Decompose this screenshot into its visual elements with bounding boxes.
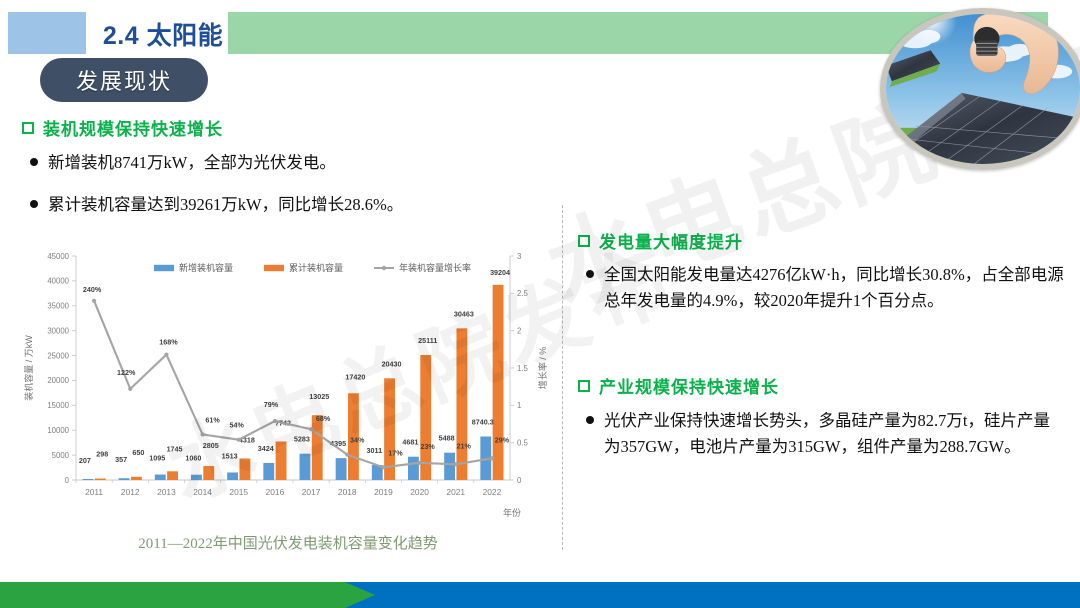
svg-text:2013: 2013 xyxy=(157,487,176,497)
svg-text:10000: 10000 xyxy=(47,426,69,435)
svg-text:2022: 2022 xyxy=(483,487,502,497)
svg-text:357: 357 xyxy=(115,455,127,464)
svg-text:35000: 35000 xyxy=(47,302,69,311)
list-item: 新增装机8741万kW，全部为光伏发电。 xyxy=(30,150,530,176)
svg-text:40000: 40000 xyxy=(47,277,69,286)
svg-text:2019: 2019 xyxy=(374,487,393,497)
footer-bar xyxy=(0,582,1080,608)
svg-text:1095: 1095 xyxy=(149,454,165,463)
svg-text:17420: 17420 xyxy=(345,372,365,381)
page-title: 2.4 太阳能 xyxy=(88,16,238,52)
svg-text:2018: 2018 xyxy=(338,487,357,497)
list-item-text: 新增装机8741万kW，全部为光伏发电。 xyxy=(48,150,336,176)
slide: 2.4 太阳能 xyxy=(0,0,1080,608)
bullet-dot-icon xyxy=(586,416,594,424)
svg-text:20000: 20000 xyxy=(47,376,69,385)
svg-text:增长率 / %: 增长率 / % xyxy=(537,347,548,390)
svg-text:5000: 5000 xyxy=(52,451,70,460)
svg-text:23%: 23% xyxy=(420,442,435,451)
section-heading-generation: 发电量大幅度提升 xyxy=(578,228,743,253)
svg-text:装机容量 / 万kW: 装机容量 / 万kW xyxy=(23,335,34,401)
svg-text:30463: 30463 xyxy=(454,309,474,318)
svg-text:79%: 79% xyxy=(264,400,279,409)
footer-green-chevron xyxy=(0,582,375,608)
svg-text:13025: 13025 xyxy=(309,392,329,401)
svg-text:1.5: 1.5 xyxy=(517,364,529,373)
svg-text:39204: 39204 xyxy=(490,268,510,277)
svg-text:8740.3: 8740.3 xyxy=(472,417,494,426)
svg-text:25000: 25000 xyxy=(47,351,69,360)
chart-caption: 2011—2022年中国光伏发电装机容量变化趋势 xyxy=(28,532,548,553)
svg-text:15000: 15000 xyxy=(47,401,69,410)
installed-capacity-chart: 0500010000150002000025000300003500040000… xyxy=(14,238,558,528)
svg-text:0.5: 0.5 xyxy=(517,438,529,447)
square-bullet-icon xyxy=(578,235,590,247)
square-bullet-icon xyxy=(578,380,590,392)
svg-text:4318: 4318 xyxy=(239,436,255,445)
list-item-text: 累计装机容量达到39261万kW，同比增长28.6%。 xyxy=(48,192,403,218)
svg-text:1745: 1745 xyxy=(167,444,183,453)
column-divider xyxy=(562,205,563,550)
section-heading-industry: 产业规模保持快速增长 xyxy=(578,373,779,398)
svg-text:2016: 2016 xyxy=(266,487,285,497)
svg-text:54%: 54% xyxy=(230,421,245,430)
list-item-text: 全国太阳能发电量达4276亿kW·h，同比增长30.8%，占全部电源总年发电量的… xyxy=(604,262,1064,313)
svg-text:207: 207 xyxy=(79,456,91,465)
svg-text:61%: 61% xyxy=(205,415,220,424)
list-item: 光伏产业保持快速增长势头，多晶硅产量为82.7万t，硅片产量为357GW，电池片… xyxy=(586,408,1064,459)
svg-text:2.5: 2.5 xyxy=(517,289,529,298)
svg-text:2011: 2011 xyxy=(85,487,103,497)
list-item: 全国太阳能发电量达4276亿kW·h，同比增长30.8%，占全部电源总年发电量的… xyxy=(586,262,1064,313)
svg-text:650: 650 xyxy=(132,448,144,457)
bullet-dot-icon xyxy=(30,158,38,166)
svg-text:29%: 29% xyxy=(495,435,510,444)
svg-text:298: 298 xyxy=(96,450,108,459)
svg-text:30000: 30000 xyxy=(47,326,69,335)
svg-text:1513: 1513 xyxy=(222,451,238,460)
list-item: 累计装机容量达到39261万kW，同比增长28.6%。 xyxy=(30,192,550,218)
svg-text:2012: 2012 xyxy=(121,487,140,497)
svg-text:3: 3 xyxy=(517,252,521,261)
svg-text:2015: 2015 xyxy=(229,487,248,497)
svg-text:1: 1 xyxy=(517,401,521,410)
svg-text:21%: 21% xyxy=(457,441,472,450)
svg-text:240%: 240% xyxy=(83,285,102,294)
svg-text:0: 0 xyxy=(517,476,522,485)
svg-text:2021: 2021 xyxy=(446,487,465,497)
svg-text:20430: 20430 xyxy=(382,359,402,368)
svg-text:5488: 5488 xyxy=(439,434,455,443)
svg-text:1060: 1060 xyxy=(185,454,201,463)
svg-text:122%: 122% xyxy=(117,368,136,377)
svg-text:2017: 2017 xyxy=(302,487,321,497)
svg-text:累计装机容量: 累计装机容量 xyxy=(289,262,343,273)
bullet-dot-icon xyxy=(30,200,38,208)
header-blue-block xyxy=(8,12,86,54)
svg-text:年装机容量增长率: 年装机容量增长率 xyxy=(399,262,471,273)
svg-text:5283: 5283 xyxy=(294,435,310,444)
svg-text:新增装机容量: 新增装机容量 xyxy=(179,262,233,273)
section-heading-installed-capacity: 装机规模保持快速增长 xyxy=(22,115,223,140)
list-item-text: 光伏产业保持快速增长势头，多晶硅产量为82.7万t，硅片产量为357GW，电池片… xyxy=(604,408,1064,459)
svg-text:0: 0 xyxy=(65,476,70,485)
section-heading-label: 发电量大幅度提升 xyxy=(599,228,743,253)
svg-text:168%: 168% xyxy=(159,338,178,347)
section-heading-label: 装机规模保持快速增长 xyxy=(43,115,223,140)
svg-text:34%: 34% xyxy=(350,436,365,445)
svg-text:25111: 25111 xyxy=(418,336,437,345)
svg-text:3424: 3424 xyxy=(258,444,274,453)
status-badge: 发展现状 xyxy=(40,58,208,102)
bullet-dot-icon xyxy=(586,270,594,278)
svg-text:2020: 2020 xyxy=(410,487,429,497)
square-bullet-icon xyxy=(22,122,34,134)
svg-text:45000: 45000 xyxy=(47,252,69,261)
svg-text:年份: 年份 xyxy=(503,507,521,518)
svg-text:3011: 3011 xyxy=(366,446,382,455)
svg-text:4681: 4681 xyxy=(402,438,418,447)
section-heading-label: 产业规模保持快速增长 xyxy=(599,373,779,398)
svg-text:2: 2 xyxy=(517,326,521,335)
svg-text:17%: 17% xyxy=(388,448,403,457)
solar-panel-photo xyxy=(880,8,1080,170)
svg-text:68%: 68% xyxy=(316,414,331,423)
chart-canvas: 0500010000150002000025000300003500040000… xyxy=(14,238,558,528)
svg-text:2805: 2805 xyxy=(203,441,219,450)
svg-text:2014: 2014 xyxy=(193,487,212,497)
